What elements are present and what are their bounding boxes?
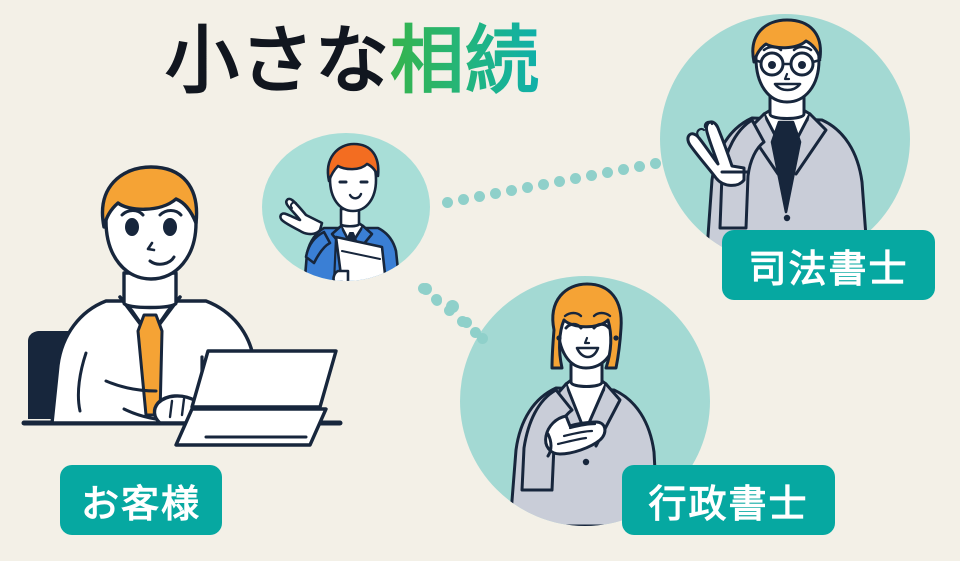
customer-illustration [10,165,350,465]
judicial-scrivener-illustration [660,14,910,264]
badge-judicial-scrivener[interactable]: 司法書士 [722,230,935,300]
title-dark-segment: 小さな [165,18,390,104]
badge-customer[interactable]: お客様 [60,465,222,535]
infographic-canvas: 小さな相続 [0,0,960,561]
badge-administrative-scrivener[interactable]: 行政書士 [622,465,835,535]
page-title: 小さな相続 [165,24,540,98]
title-gradient-segment: 相続 [390,18,540,104]
